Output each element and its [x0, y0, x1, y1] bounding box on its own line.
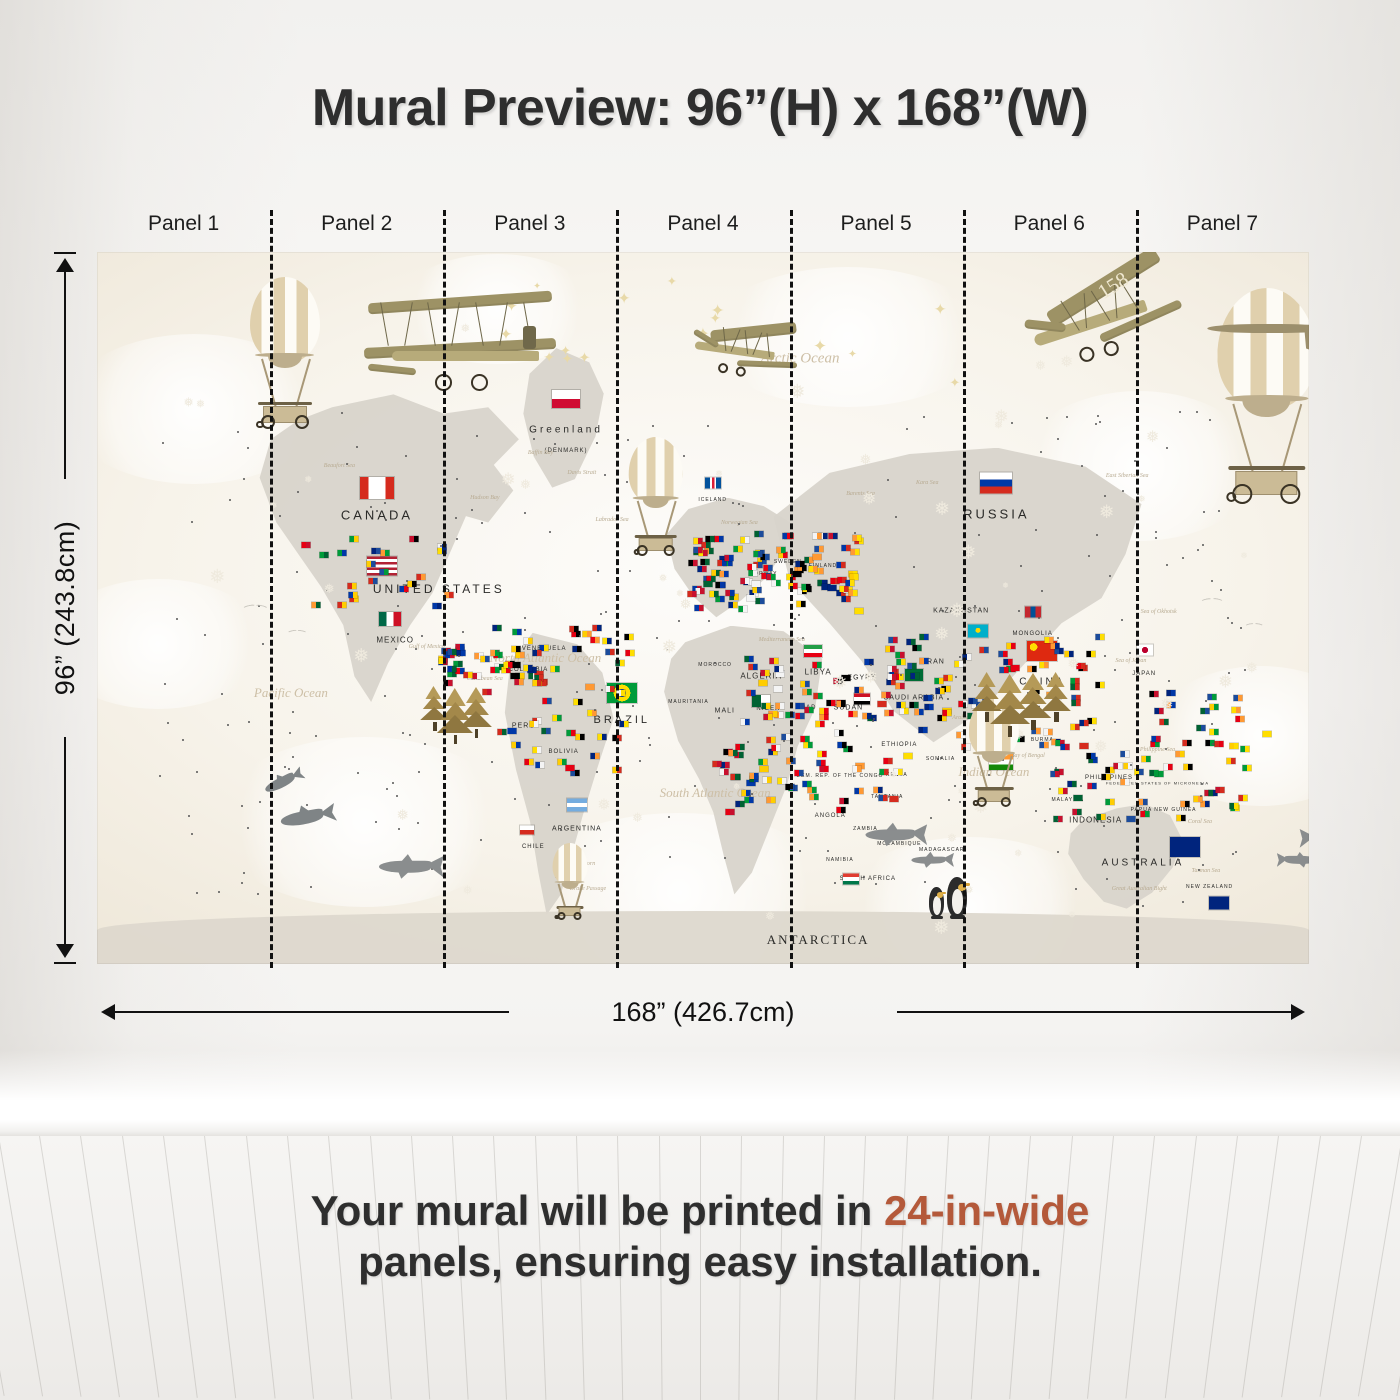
- micro-flag: [719, 571, 728, 577]
- country-flag: [1170, 837, 1200, 857]
- city-dot: [1097, 415, 1099, 417]
- city-dot: [396, 795, 398, 797]
- micro-flag: [802, 781, 811, 787]
- country-label: LIBYA: [805, 668, 832, 677]
- city-dot: [392, 782, 394, 784]
- penguin-belly: [952, 889, 964, 914]
- micro-flag: [1040, 742, 1049, 748]
- city-dot: [418, 771, 420, 773]
- city-dot: [196, 892, 198, 894]
- snowflake-icon: ❅: [1246, 659, 1258, 676]
- ocean-label: Pacific Ocean: [254, 685, 328, 701]
- vintage-monoplane-panel4: [687, 312, 802, 384]
- dolphin-panel1-b: [279, 800, 340, 837]
- micro-flag: [448, 666, 457, 672]
- micro-flag: [525, 759, 534, 765]
- city-dot: [346, 463, 348, 465]
- landmass-antarctica: [97, 911, 1309, 964]
- star-icon: ✦: [949, 375, 960, 391]
- micro-flag: [1121, 779, 1130, 785]
- micro-flag: [1044, 729, 1053, 735]
- micro-flag: [551, 666, 560, 672]
- city-dot: [554, 443, 556, 445]
- panel-label-row: Panel 1 Panel 2 Panel 3 Panel 4 Panel 5 …: [97, 212, 1309, 246]
- country-label: NEW ZEALAND: [1186, 884, 1233, 890]
- micro-flag: [907, 639, 916, 645]
- biplane-strut: [452, 302, 461, 346]
- micro-flag: [1141, 756, 1150, 762]
- city-dot: [421, 635, 423, 637]
- balloon-envelope: [250, 277, 320, 363]
- micro-flag: [730, 774, 739, 780]
- city-dot: [259, 801, 261, 803]
- micro-flag: [751, 581, 760, 587]
- city-dot: [481, 522, 483, 524]
- height-dimension-label: 96” (243.8cm): [48, 252, 82, 964]
- micro-flag: [511, 742, 520, 748]
- micro-flag: [687, 591, 696, 597]
- city-dot: [164, 683, 166, 685]
- micro-flag: [513, 629, 522, 635]
- city-dot: [405, 455, 407, 457]
- micro-flag: [819, 766, 828, 772]
- city-dot: [1166, 447, 1168, 449]
- mural-artwork: CANADAUNITED STATESMEXICOGreenland(DENMA…: [97, 252, 1309, 964]
- penguin-feet: [931, 916, 943, 919]
- micro-flag: [379, 569, 388, 575]
- micro-flag: [372, 548, 381, 554]
- city-dot: [480, 839, 482, 841]
- city-dot: [742, 505, 744, 507]
- shark-dorsal-fin: [925, 852, 934, 858]
- city-dot: [514, 798, 516, 800]
- city-dot: [1088, 555, 1090, 557]
- city-dot: [802, 637, 804, 639]
- width-dimension-label: 168” (426.7cm): [97, 995, 1309, 1029]
- page-title: Mural Preview: 96”(H) x 168”(W): [0, 78, 1400, 138]
- micro-flag: [773, 686, 782, 692]
- micro-flag: [897, 702, 906, 708]
- city-dot: [462, 631, 464, 633]
- snowflake-icon: ❅: [1146, 427, 1160, 447]
- micro-flag: [878, 795, 887, 801]
- snowflake-icon: ❅: [324, 581, 335, 597]
- baseboard: [0, 1120, 1400, 1136]
- city-dot: [248, 721, 250, 723]
- city-dot: [1240, 627, 1242, 629]
- micro-flag: [776, 671, 785, 677]
- city-dot: [243, 872, 245, 874]
- hot-air-balloon-panel3: [628, 437, 683, 578]
- micro-flag: [836, 562, 845, 568]
- city-dot: [1114, 721, 1116, 723]
- micro-flag: [433, 603, 442, 609]
- city-dot: [873, 718, 875, 720]
- city-dot: [1020, 565, 1022, 567]
- balloon-cart-wheel-small: [973, 800, 979, 806]
- city-dot: [668, 816, 670, 818]
- country-label: NAMIBIA: [826, 857, 854, 863]
- micro-flag: [1071, 684, 1080, 690]
- micro-flag: [704, 581, 713, 587]
- city-dot: [596, 442, 598, 444]
- micro-flag: [855, 608, 864, 614]
- micro-flag: [796, 703, 805, 709]
- star-icon: ✦: [618, 290, 631, 309]
- city-dot: [1220, 589, 1222, 591]
- city-dot: [605, 611, 607, 613]
- city-dot: [1122, 490, 1124, 492]
- city-dot: [497, 650, 499, 652]
- micro-flag: [369, 578, 378, 584]
- micro-flag: [851, 549, 860, 555]
- city-dot: [196, 771, 198, 773]
- city-dot: [924, 881, 926, 883]
- micro-flag: [842, 545, 851, 551]
- penguin-belly: [933, 896, 942, 915]
- micro-flag: [796, 561, 805, 567]
- city-dot: [1197, 549, 1199, 551]
- micro-flag: [715, 536, 724, 542]
- city-dot: [955, 676, 957, 678]
- micro-flag: [1239, 795, 1248, 801]
- city-dot: [1095, 423, 1097, 425]
- caption-line2: panels, ensuring easy installation.: [358, 1238, 1042, 1285]
- micro-flag: [1068, 781, 1077, 787]
- micro-flag: [810, 794, 819, 800]
- micro-flag: [879, 769, 888, 775]
- city-dot: [1114, 669, 1116, 671]
- city-dot: [948, 799, 950, 801]
- micro-flag: [895, 652, 904, 658]
- micro-flag: [882, 692, 891, 698]
- city-dot: [601, 689, 603, 691]
- city-dot: [1035, 810, 1037, 812]
- city-dot: [678, 620, 680, 622]
- micro-flag: [1058, 788, 1067, 794]
- snowflake-icon: ❅: [1160, 694, 1173, 714]
- pine-trunk: [433, 722, 437, 732]
- city-dot: [357, 772, 359, 774]
- micro-flag: [1072, 809, 1081, 815]
- micro-flag: [802, 584, 811, 590]
- city-dot: [1055, 767, 1057, 769]
- micro-flag: [779, 552, 788, 558]
- micro-flag: [747, 564, 756, 570]
- micro-flag: [1127, 816, 1136, 822]
- micro-flag: [709, 591, 718, 597]
- biplane-wheel: [471, 374, 488, 391]
- micro-flag: [706, 536, 715, 542]
- city-dot: [247, 827, 249, 829]
- pine-foliage: [1041, 696, 1071, 711]
- city-dot: [954, 785, 956, 787]
- city-dot: [402, 732, 404, 734]
- city-dot: [732, 502, 734, 504]
- micro-flag: [837, 807, 846, 813]
- city-dot: [315, 735, 317, 737]
- city-dot: [385, 519, 387, 521]
- wall-scene: Mural Preview: 96”(H) x 168”(W) Panel 1 …: [0, 0, 1400, 1120]
- snowflake-icon: ❅: [304, 474, 312, 485]
- monoplane-wheel: [734, 366, 745, 377]
- snowflake-icon: ❅: [994, 418, 1003, 431]
- city-dot: [870, 664, 872, 666]
- city-dot: [827, 850, 829, 852]
- micro-flag: [1208, 694, 1217, 700]
- city-dot: [978, 534, 980, 536]
- balloon-cart-roof: [1228, 466, 1305, 470]
- city-dot: [1179, 411, 1181, 413]
- city-dot: [814, 803, 816, 805]
- city-dot: [560, 829, 562, 831]
- panel-divider-1: [270, 210, 273, 968]
- city-dot: [694, 785, 696, 787]
- country-label: BOLIVIA: [548, 749, 578, 755]
- city-dot: [652, 425, 654, 427]
- city-dot: [241, 805, 243, 807]
- panel-divider-2: [443, 210, 446, 968]
- micro-flag: [715, 582, 724, 588]
- city-dot: [167, 722, 169, 724]
- micro-flag: [749, 664, 758, 670]
- micro-flag: [570, 770, 579, 776]
- city-dot: [913, 566, 915, 568]
- city-dot: [1093, 729, 1095, 731]
- snowflake-icon: ❅: [1094, 737, 1108, 757]
- mural-preview: CANADAUNITED STATESMEXICOGreenland(DENMA…: [97, 252, 1309, 964]
- micro-flag: [802, 689, 811, 695]
- city-dot: [959, 801, 961, 803]
- city-dot: [1080, 785, 1082, 787]
- city-dot: [1200, 795, 1202, 797]
- pine-trees-russia: [976, 665, 1066, 730]
- micro-flag: [890, 796, 899, 802]
- snowflake-icon: ❅: [597, 795, 610, 815]
- biplane-tail: [367, 363, 415, 375]
- micro-flag: [1113, 763, 1122, 769]
- micro-flag: [935, 688, 944, 694]
- city-dot: [1075, 888, 1077, 890]
- width-dimension-text: 168” (426.7cm): [597, 997, 808, 1028]
- cloud-shape: [214, 737, 514, 907]
- shark-dorsal-fin: [1296, 852, 1304, 857]
- snowflake-icon: ❅: [1002, 580, 1009, 590]
- micro-flag: [725, 590, 734, 596]
- micro-flag: [695, 605, 704, 611]
- city-dot: [863, 876, 865, 878]
- country-label: UNITED STATES: [373, 582, 505, 596]
- country-flag: [1209, 897, 1229, 910]
- city-dot: [596, 771, 598, 773]
- micro-flag: [753, 587, 762, 593]
- micro-flag: [1080, 720, 1089, 726]
- city-dot: [773, 624, 775, 626]
- balloon-skirt: [561, 883, 578, 889]
- micro-flag: [863, 713, 872, 719]
- city-dot: [1232, 853, 1234, 855]
- micro-flag: [688, 560, 697, 566]
- snowflake-icon: ❅: [1014, 849, 1022, 860]
- micro-flag: [1196, 725, 1205, 731]
- city-dot: [751, 793, 753, 795]
- micro-flag: [702, 542, 711, 548]
- micro-flag: [910, 673, 919, 679]
- micro-flag: [1164, 764, 1173, 770]
- micro-flag: [586, 684, 595, 690]
- micro-flag: [490, 667, 499, 673]
- micro-flag: [1045, 637, 1054, 643]
- micro-flag: [735, 744, 744, 750]
- micro-flag: [597, 734, 606, 740]
- micro-flag: [1231, 707, 1240, 713]
- sea-label: Labrador Sea: [596, 517, 629, 523]
- micro-flag: [1234, 695, 1243, 701]
- micro-flag: [914, 709, 923, 715]
- micro-flag: [904, 753, 913, 759]
- micro-flag: [1102, 774, 1111, 780]
- city-dot: [221, 693, 223, 695]
- micro-flag: [760, 670, 769, 676]
- micro-flag: [804, 742, 813, 748]
- dolphin-tail: [318, 803, 337, 823]
- biplane-fuselage: [392, 351, 540, 360]
- penguin-cheek: [937, 892, 943, 897]
- city-dot: [257, 893, 259, 895]
- width-dimension-line: 168” (426.7cm): [97, 995, 1309, 1029]
- micro-flag: [416, 574, 425, 580]
- city-dot: [176, 618, 178, 620]
- panel-label-6: Panel 6: [963, 212, 1136, 246]
- city-dot: [1049, 788, 1051, 790]
- gull-wing: [1212, 597, 1224, 603]
- balloon-cart-wheel-small: [1226, 492, 1237, 503]
- city-dot: [588, 663, 590, 665]
- micro-flag: [924, 704, 933, 710]
- micro-flag: [603, 638, 612, 644]
- monoplane-rear-wing: [736, 360, 797, 369]
- micro-flag: [771, 580, 780, 586]
- city-dot: [1104, 655, 1106, 657]
- city-dot: [714, 662, 716, 664]
- city-dot: [524, 617, 526, 619]
- city-dot: [870, 746, 872, 748]
- city-dot: [632, 705, 634, 707]
- city-dot: [834, 882, 836, 884]
- micro-flag: [813, 662, 822, 668]
- city-dot: [604, 474, 606, 476]
- micro-flag: [763, 565, 772, 571]
- micro-flag: [447, 649, 456, 655]
- city-dot: [1227, 617, 1229, 619]
- city-dot: [649, 744, 651, 746]
- balloon-skirt: [1243, 400, 1291, 417]
- snowflake-icon: ❅: [1240, 550, 1248, 561]
- balloon-rope: [1233, 403, 1254, 471]
- micro-flag: [852, 766, 861, 772]
- city-dot: [579, 635, 581, 637]
- micro-flag: [763, 777, 772, 783]
- city-dot: [1066, 416, 1068, 418]
- micro-flag: [885, 710, 894, 716]
- city-dot: [747, 741, 749, 743]
- country-flag: [520, 826, 534, 835]
- micro-flag: [724, 555, 733, 561]
- city-dot: [1209, 419, 1211, 421]
- micro-flag: [815, 721, 824, 727]
- micro-flag: [1141, 811, 1150, 817]
- city-dot: [875, 625, 877, 627]
- micro-flag: [409, 536, 418, 542]
- snowflake-icon: ❅: [715, 468, 723, 479]
- snowflake-icon: ❅: [765, 909, 775, 923]
- shark-pectoral-fin: [398, 870, 411, 879]
- micro-flag: [350, 536, 359, 542]
- city-dot: [707, 425, 709, 427]
- city-dot: [600, 613, 602, 615]
- city-dot: [576, 691, 578, 693]
- micro-flag: [493, 625, 502, 631]
- micro-flag: [935, 678, 944, 684]
- country-label: ANGOLA: [815, 813, 846, 819]
- balloon-rope: [1281, 403, 1302, 471]
- micro-flag: [1229, 743, 1238, 749]
- country-flag: [567, 798, 587, 811]
- sea-label: Gulf of Mexico: [409, 644, 445, 650]
- micro-flag: [1061, 744, 1070, 750]
- snowflake-icon: ❅: [864, 667, 878, 688]
- city-dot: [384, 502, 386, 504]
- micro-flag: [511, 673, 520, 679]
- micro-flag: [591, 753, 600, 759]
- micro-flag: [772, 745, 781, 751]
- micro-flag: [698, 566, 707, 572]
- micro-flag: [516, 652, 525, 658]
- city-dot: [1155, 531, 1157, 533]
- micro-flag: [1120, 751, 1129, 757]
- balloon-envelope: [628, 437, 683, 504]
- shark-dorsal-fin: [886, 823, 899, 831]
- micro-flag: [515, 679, 524, 685]
- city-dot: [182, 739, 184, 741]
- micro-flag: [734, 546, 743, 552]
- city-dot: [395, 648, 397, 650]
- country-label: DEM. REP. OF THE CONGO: [797, 773, 884, 779]
- micro-flag: [512, 646, 521, 652]
- country-label: RUSSIA: [963, 507, 1029, 522]
- city-dot: [1040, 451, 1042, 453]
- city-dot: [1011, 422, 1013, 424]
- city-dot: [1211, 580, 1213, 582]
- city-dot: [247, 447, 249, 449]
- micro-flag: [910, 702, 919, 708]
- shark-panel4-b: [912, 851, 955, 870]
- balloon-cart-wheel: [663, 545, 674, 556]
- city-dot: [1081, 465, 1083, 467]
- city-dot: [1041, 590, 1043, 592]
- balloon-cart-wheel: [574, 912, 582, 920]
- sea-label: East Siberian Sea: [1106, 473, 1149, 479]
- city-dot: [310, 886, 312, 888]
- city-dot: [296, 571, 298, 573]
- micro-flag: [1080, 743, 1089, 749]
- pine-trunk: [475, 729, 479, 739]
- micro-flag: [1193, 796, 1202, 802]
- city-dot: [356, 446, 358, 448]
- pine-trees-canada: [424, 679, 485, 738]
- micro-flag: [980, 647, 989, 653]
- micro-flag: [1242, 765, 1251, 771]
